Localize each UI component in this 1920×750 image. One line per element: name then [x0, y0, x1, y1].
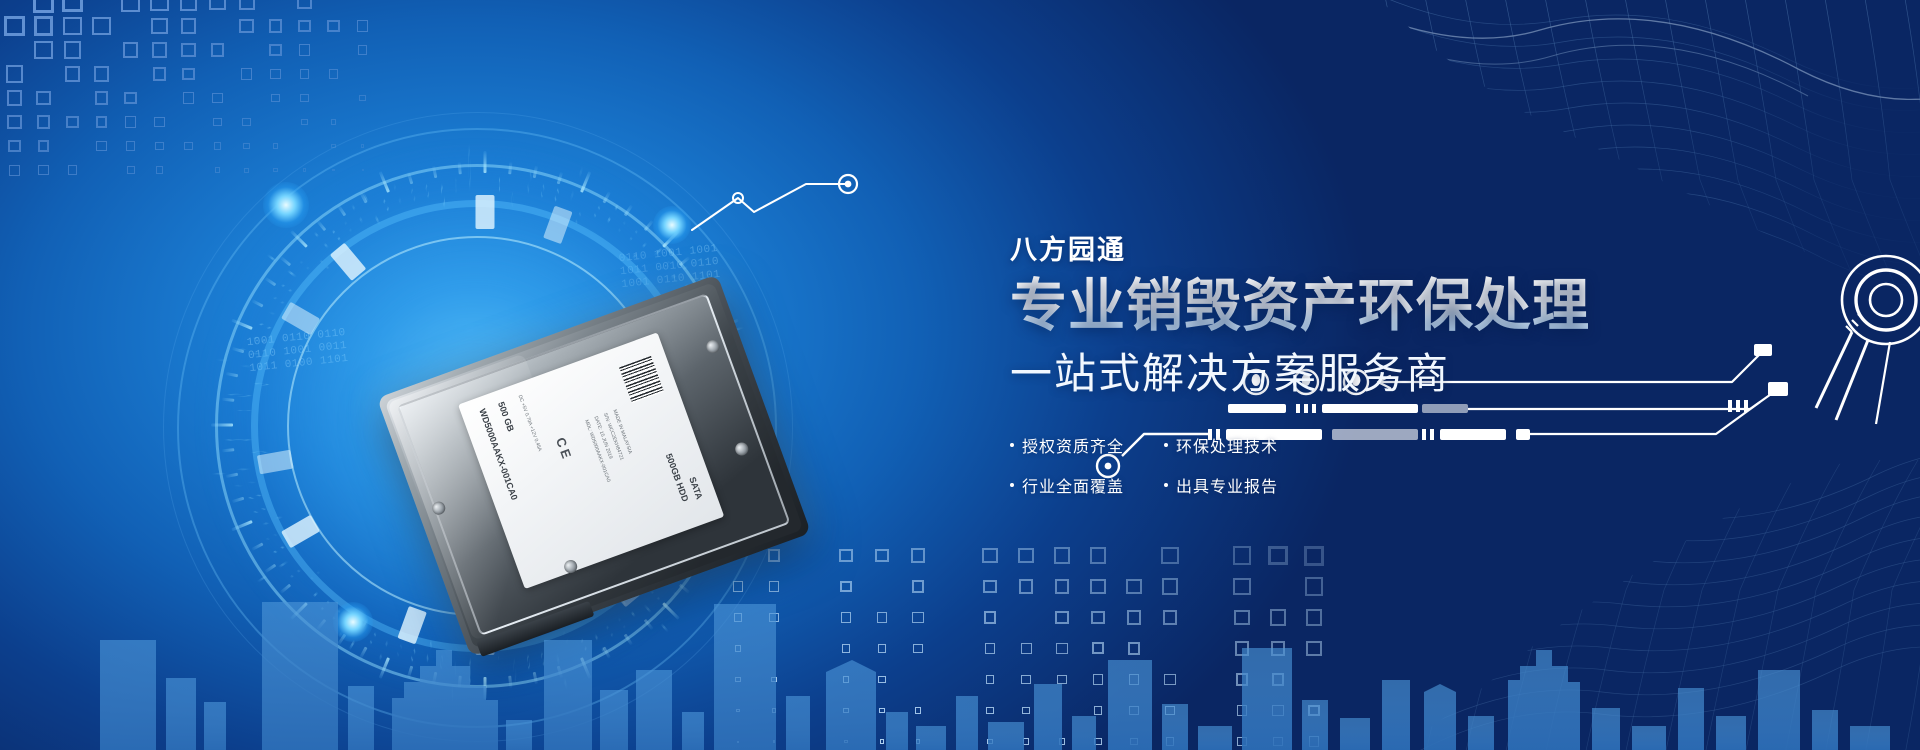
- mosaic-square: [96, 141, 106, 151]
- bullet-dot-icon: [1010, 483, 1014, 487]
- promo-banner: 1001 0110 0110 0110 1001 0011 1011 0100 …: [0, 0, 1920, 750]
- mosaic-square: [358, 45, 368, 55]
- ring-flare-topright: [653, 206, 691, 244]
- callout-connector: [690, 168, 870, 238]
- feature-label: 出具专业报告: [1176, 473, 1278, 497]
- mosaic-square: [357, 20, 368, 31]
- mosaic-square: [8, 140, 21, 153]
- ring-flare-topleft: [263, 182, 309, 228]
- mosaic-square: [92, 17, 110, 35]
- mosaic-square: [211, 43, 225, 57]
- brand-name: 八方园通: [1010, 228, 1650, 267]
- feature-label: 行业全面覆盖: [1022, 473, 1124, 497]
- feature-list: 授权资质齐全环保处理技术行业全面覆盖出具专业报告: [1010, 433, 1650, 497]
- mosaic-square: [125, 116, 136, 127]
- feature-item: 出具专业报告: [1164, 473, 1296, 497]
- city-skyline-silhouette: [0, 520, 1920, 750]
- bullet-dot-icon: [1164, 443, 1168, 447]
- headline: 专业销毁资产环保处理: [1010, 275, 1650, 339]
- ring-segment: [476, 195, 495, 229]
- mosaic-square: [182, 68, 195, 81]
- dial-spiral-graphic: [1794, 238, 1920, 428]
- mosaic-square: [95, 91, 108, 104]
- mosaic-square: [150, 0, 168, 11]
- hdd-label-barcode: [619, 356, 664, 403]
- mosaic-square: [7, 115, 21, 129]
- mosaic-square: [153, 67, 167, 81]
- mosaic-square: [62, 0, 83, 12]
- feature-item: 行业全面覆盖: [1010, 473, 1142, 497]
- hdd-label-spec: DC +5V 0.70A +12V 0.45A: [516, 394, 543, 452]
- mosaic-square: [37, 115, 50, 128]
- hdd-label-certs: CE: [553, 435, 575, 463]
- mosaic-square: [241, 68, 252, 79]
- mosaic-square: [124, 92, 137, 105]
- mosaic-square: [152, 42, 167, 57]
- mosaic-square: [212, 93, 222, 103]
- mosaic-square: [63, 17, 82, 36]
- mosaic-square: [68, 165, 78, 175]
- mosaic-square: [300, 69, 310, 79]
- mosaic-square: [270, 69, 281, 80]
- mosaic-square: [64, 41, 81, 58]
- feature-item: 环保处理技术: [1164, 433, 1296, 457]
- mosaic-square: [239, 19, 253, 33]
- subheadline: 一站式解决方案服务商: [1010, 349, 1650, 399]
- mosaic-square: [151, 18, 168, 35]
- hdd-label-brand: 500GB HDD: [664, 452, 691, 503]
- feature-label: 授权资质齐全: [1022, 433, 1124, 457]
- mosaic-square: [123, 42, 139, 58]
- mosaic-square: [359, 95, 366, 102]
- mosaic-square: [181, 18, 197, 34]
- mosaic-square: [300, 94, 308, 102]
- mosaic-square: [7, 90, 23, 106]
- mosaic-square: [65, 66, 81, 82]
- mosaic-square: [34, 41, 52, 59]
- mosaic-square: [183, 92, 194, 103]
- mosaic-square: [271, 94, 280, 103]
- mosaic-square: [38, 140, 50, 152]
- mosaic-square: [126, 141, 136, 151]
- mosaic-square: [121, 0, 140, 12]
- mosaic-square: [66, 116, 79, 129]
- mosaic-square: [36, 91, 51, 106]
- mosaic-square: [94, 66, 109, 81]
- mosaic-square: [4, 16, 24, 36]
- banner-copy-block: 八方园通 专业销毁资产环保处理 一站式解决方案服务商 授权资质齐全环保处理技术行…: [1010, 228, 1650, 497]
- mosaic-square: [34, 16, 54, 36]
- mosaic-square: [329, 69, 338, 78]
- mosaic-square: [96, 116, 108, 128]
- mosaic-square: [239, 0, 255, 10]
- mosaic-square: [298, 20, 311, 33]
- bullet-dot-icon: [1164, 483, 1168, 487]
- mosaic-square: [209, 0, 226, 10]
- mosaic-square: [181, 43, 195, 57]
- mosaic-square: [180, 0, 198, 11]
- feature-item: 授权资质齐全: [1010, 433, 1142, 457]
- ring-tick: [211, 424, 233, 427]
- mosaic-square: [38, 165, 48, 175]
- mosaic-square: [299, 44, 310, 55]
- mosaic-square: [297, 0, 312, 9]
- mosaic-square: [269, 44, 281, 56]
- feature-label: 环保处理技术: [1176, 433, 1278, 457]
- mosaic-square: [127, 166, 135, 174]
- mosaic-square: [9, 165, 20, 176]
- mosaic-square: [33, 0, 54, 13]
- mosaic-square: [327, 20, 339, 32]
- mosaic-square: [6, 65, 23, 82]
- ring-tick: [484, 151, 487, 173]
- mosaic-square: [269, 19, 283, 33]
- hdd-label-capacity: 500 GB: [496, 400, 516, 433]
- bullet-dot-icon: [1010, 443, 1014, 447]
